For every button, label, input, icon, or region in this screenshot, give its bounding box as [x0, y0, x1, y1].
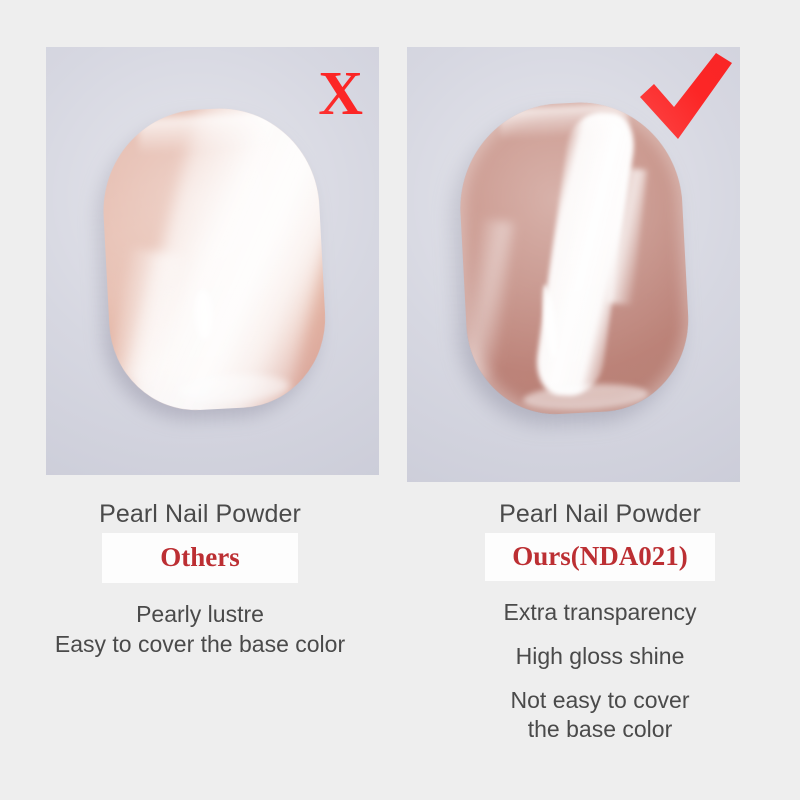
feature-item: Extra transparency	[400, 597, 800, 627]
nail-swatch-ours	[455, 97, 693, 418]
nail-body-ours	[455, 97, 693, 418]
nail-body-others	[98, 104, 329, 415]
product-comparison: X Pearl Nail Powder Others Pearly lustre…	[0, 0, 800, 800]
nail-swatch-others	[98, 104, 329, 415]
feature-list-ours: Extra transparency High gloss shine Not …	[400, 597, 800, 743]
feature-item: Not easy to cover the base color	[400, 685, 800, 743]
product-title-ours: Pearl Nail Powder	[400, 498, 800, 530]
nail-photo-ours	[407, 47, 740, 482]
pearl-sheen-band	[117, 104, 330, 415]
check-mark-icon	[638, 51, 734, 141]
feature-list-others: Pearly lustre Easy to cover the base col…	[0, 599, 400, 659]
comparison-column-ours: Pearl Nail Powder Ours(NDA021) Extra tra…	[400, 0, 800, 800]
caption-ours: Pearl Nail Powder Ours(NDA021) Extra tra…	[400, 498, 800, 743]
gloss-highlight-bottom	[523, 381, 648, 412]
gloss-highlight-side	[606, 167, 647, 305]
gloss-highlight-main	[532, 111, 638, 398]
feature-item-line1: Not easy to cover	[511, 687, 690, 713]
product-title-others: Pearl Nail Powder	[0, 498, 400, 530]
gloss-highlight-top	[500, 103, 630, 141]
brand-badge-ours: Ours(NDA021)	[485, 533, 715, 581]
gloss-highlight-streak	[539, 284, 559, 359]
nail-edge-rim	[455, 97, 693, 418]
feature-item: Pearly lustre	[0, 599, 400, 629]
pearl-sheen-edge	[108, 247, 184, 386]
nail-photo-others: X	[46, 47, 379, 475]
pearl-sheen-bottom	[177, 372, 291, 405]
caption-others: Pearl Nail Powder Others Pearly lustre E…	[0, 498, 400, 659]
brand-badge-others: Others	[102, 533, 297, 583]
cross-mark-icon: X	[318, 63, 363, 125]
feature-item: High gloss shine	[400, 641, 800, 671]
pearl-sheen-spot	[194, 289, 214, 341]
feature-item-line2: the base color	[400, 715, 800, 743]
gloss-highlight-left	[460, 218, 515, 382]
comparison-column-others: X Pearl Nail Powder Others Pearly lustre…	[0, 0, 400, 800]
feature-item: Easy to cover the base color	[0, 629, 400, 659]
pearl-sheen-top	[137, 112, 273, 155]
